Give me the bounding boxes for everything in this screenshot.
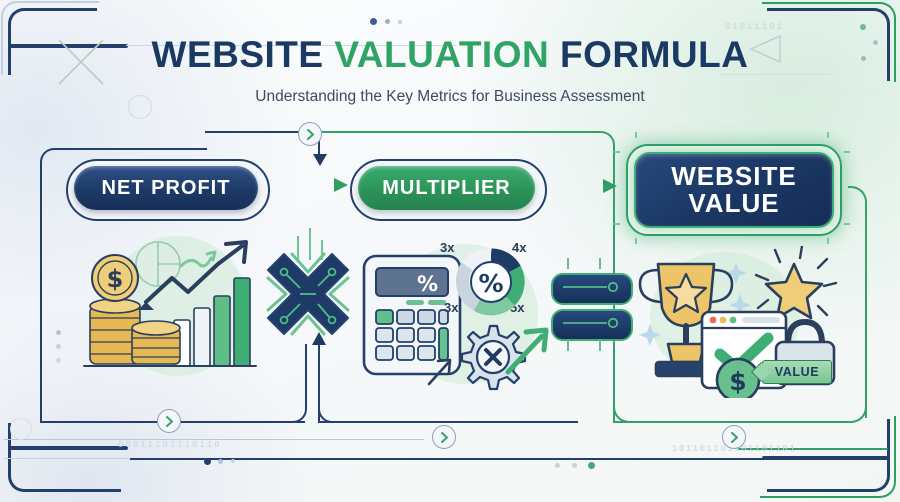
title-word-website: WEBSITE <box>152 34 335 75</box>
flow-chevron-top-1[interactable] <box>298 122 322 146</box>
money-growth-illustration: $ <box>76 238 264 388</box>
marker-dot-top-1 <box>370 18 377 25</box>
binary-decor-top: 01011101 <box>725 22 784 32</box>
title-word-formula: FORMULA <box>549 34 748 75</box>
chevron-right-icon <box>439 432 450 443</box>
binary-decor-bottom-left: 00011101110110 <box>118 440 222 450</box>
connector-left-vertical <box>40 186 44 421</box>
flow-chevron-bottom-3[interactable] <box>722 425 746 449</box>
infographic-canvas: 01011101 00011101110110 1011011011011011… <box>0 0 900 502</box>
marker-dot-top-2 <box>385 19 390 24</box>
connector-bottom-mid <box>318 419 578 423</box>
marker-dot-left-3 <box>56 358 61 363</box>
small-up-arrow <box>424 356 454 388</box>
gear-multiply-illustration <box>452 322 560 408</box>
marker-dot-right-1 <box>860 24 866 30</box>
node-net-profit[interactable]: NET PROFIT <box>74 166 258 210</box>
node-multiplier[interactable]: MULTIPLIER <box>358 166 535 210</box>
accent-line-bottom-left <box>10 446 128 450</box>
flow-chevron-bottom-1[interactable] <box>157 409 181 433</box>
gear-icon <box>462 326 525 389</box>
marker-dot-left-1 <box>56 330 61 335</box>
equals-circuit-detail <box>551 273 629 337</box>
value-badge-label: VALUE <box>775 365 819 379</box>
title-word-valuation: VALUATION <box>334 34 549 75</box>
marker-dot-2 <box>218 459 223 464</box>
multiply-circuit-antenna <box>288 226 332 260</box>
chevron-right-icon <box>729 432 740 443</box>
marker-dot-3 <box>231 459 235 463</box>
value-badge: VALUE <box>762 360 832 384</box>
net-profit-label: NET PROFIT <box>102 177 231 200</box>
marker-dot-1 <box>204 458 211 465</box>
equals-bottom-ticks <box>558 338 622 352</box>
equals-top-ticks <box>558 258 622 272</box>
chevron-right-icon <box>305 129 316 140</box>
operator-multiply <box>262 248 354 344</box>
multiplier-label: MULTIPLIER <box>382 177 511 200</box>
decor-circle-bottom <box>10 418 32 440</box>
marker-dot-4 <box>555 463 560 468</box>
multiplier-gauge: % <box>455 246 527 318</box>
chevron-right-icon <box>164 416 175 427</box>
connector-right-outer <box>848 186 867 418</box>
connector-bottom-left-elbow <box>285 344 307 423</box>
svg-text:$: $ <box>729 367 746 396</box>
marker-dot-left-2 <box>56 344 61 349</box>
gold-star <box>766 264 822 318</box>
coin-with-dollar: $ <box>92 255 138 301</box>
arrowhead-down-multiplier <box>311 152 329 168</box>
page-title: WEBSITE VALUATION FORMULA <box>0 34 900 76</box>
dollar-badge: $ <box>717 359 759 398</box>
gauge-center-percent: % <box>478 269 503 298</box>
hairline-bottom-dark <box>130 458 890 460</box>
connector-right-bottom <box>613 405 867 423</box>
small-trend-arrow <box>181 258 211 266</box>
page-subtitle: Understanding the Key Metrics for Busine… <box>0 88 900 106</box>
marker-dot-5 <box>572 463 577 468</box>
flow-chevron-bottom-2[interactable] <box>432 425 456 449</box>
growth-arrow-line <box>146 246 242 302</box>
calculator-display-value: % <box>417 272 438 296</box>
coin-stack-short <box>132 321 180 364</box>
marker-dot-6 <box>588 462 595 469</box>
hairline-tr-2 <box>750 84 830 85</box>
gauge-tick-3x-top: 3x <box>440 240 454 255</box>
marker-dot-top-3 <box>398 20 402 24</box>
svg-text:$: $ <box>107 265 124 293</box>
website-value-glow-ticks <box>614 132 850 244</box>
